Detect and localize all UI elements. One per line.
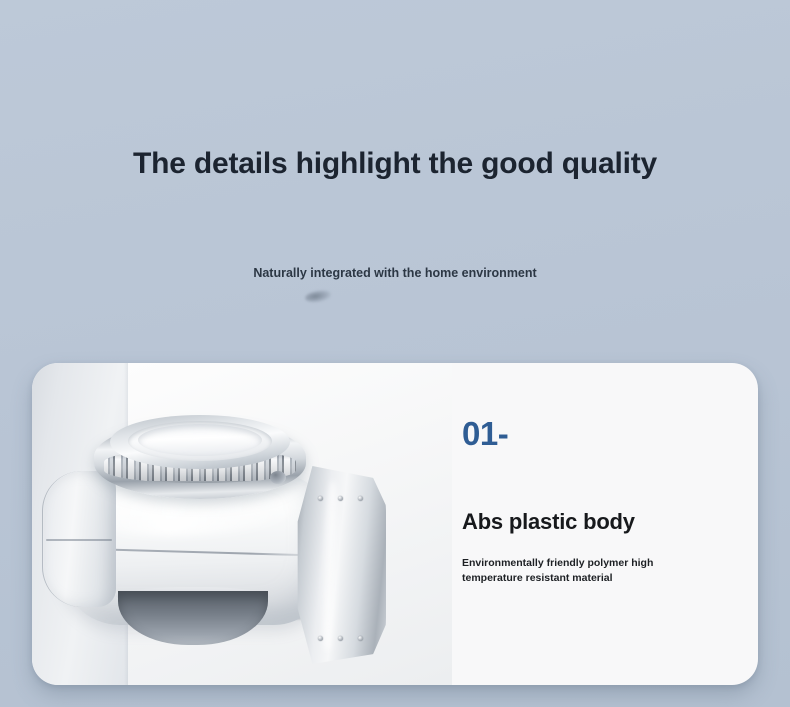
feature-text-column: 01- Abs plastic body Environmentally fri…: [462, 363, 758, 685]
rivet: [318, 636, 323, 641]
feature-description: Environmentally friendly polymer high te…: [462, 556, 688, 586]
headline-block: The details highlight the good quality: [0, 146, 790, 183]
page-subtitle: Naturally integrated with the home envir…: [200, 265, 590, 282]
rivet: [358, 496, 363, 501]
page-title: The details highlight the good quality: [90, 146, 700, 183]
subhead-block: Naturally integrated with the home envir…: [0, 265, 790, 282]
rivet: [318, 496, 323, 501]
rivet: [358, 636, 363, 641]
rivet: [338, 496, 343, 501]
product-chrome-collar: [94, 411, 306, 507]
collar-aperture: [138, 424, 262, 456]
feature-step-number: 01-: [462, 417, 734, 450]
feature-title: Abs plastic body: [462, 510, 734, 534]
product-image: [32, 363, 452, 685]
side-panel-rivets-bottom: [318, 636, 363, 641]
watermark-smudge-artifact: [304, 289, 331, 304]
product-feature-poster: The details highlight the good quality N…: [0, 0, 790, 707]
side-panel-rivets-top: [318, 496, 363, 501]
feature-card: 01- Abs plastic body Environmentally fri…: [32, 363, 758, 685]
rivet: [338, 636, 343, 641]
product-knuckle-seam: [46, 539, 112, 541]
collar-dimple: [270, 471, 286, 484]
